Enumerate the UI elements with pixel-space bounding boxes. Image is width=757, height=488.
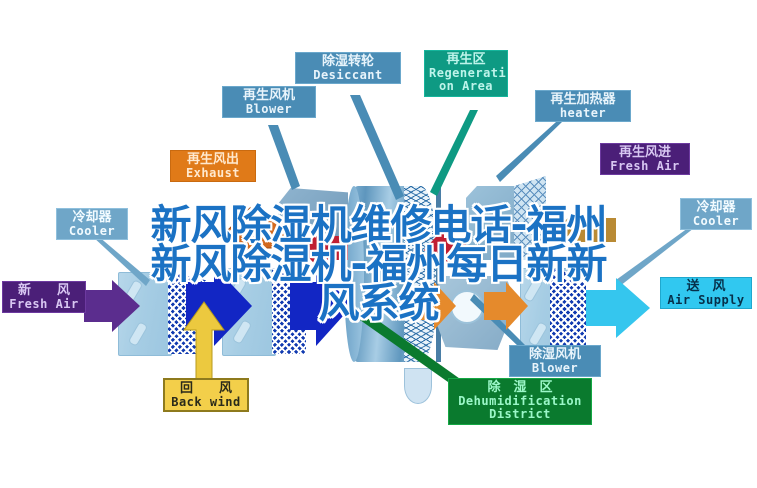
arrow-fresh-air-in-icon: [84, 280, 140, 332]
label-desiccant-wheel-en: Desiccant: [300, 69, 396, 82]
label-regeneration-blower-en: Blower: [227, 103, 311, 116]
label-dehumidification-blower: 除湿风机 Blower: [509, 345, 601, 377]
label-regeneration-blower-cn: 再生风机: [227, 89, 311, 103]
label-regeneration-exhaust-cn: 再生风出: [175, 153, 251, 167]
dehumidifier-diagram: 除湿转轮 Desiccant 再生风机 Blower 再生区 Regenerat…: [0, 0, 757, 488]
arrow-dry-air2-icon: [484, 282, 528, 330]
label-regeneration-air-inlet: 再生风进 Fresh Air: [600, 143, 690, 175]
label-dehumidification-district-cn: 除 湿 区: [453, 381, 587, 395]
label-desiccant-wheel-cn: 除湿转轮: [300, 55, 396, 69]
label-cooler-right-en: Cooler: [685, 215, 747, 228]
label-desiccant-wheel: 除湿转轮 Desiccant: [295, 52, 401, 84]
label-fresh-air-cn: 新 风: [7, 284, 81, 298]
label-fresh-air: 新 风 Fresh Air: [2, 281, 86, 313]
label-cooler-right: 冷却器 Cooler: [680, 198, 752, 230]
arrow-process-main2-icon: [290, 266, 352, 346]
label-dehumidification-district: 除 湿 区 Dehumidification District: [448, 378, 592, 425]
label-regeneration-blower: 再生风机 Blower: [222, 86, 316, 118]
label-regeneration-area: 再生区 Regenerati on Area: [424, 50, 508, 97]
label-fresh-air-en: Fresh Air: [7, 298, 81, 311]
label-dehumidification-district-en: Dehumidification District: [453, 395, 587, 423]
label-regeneration-exhaust: 再生风出 Exhaust: [170, 150, 256, 182]
label-regeneration-area-cn: 再生区: [429, 53, 503, 67]
label-regeneration-air-inlet-cn: 再生风进: [605, 146, 685, 160]
label-back-wind: 回 风 Back wind: [163, 378, 249, 412]
label-cooler-left: 冷却器 Cooler: [56, 208, 128, 240]
label-air-supply: 送 风 Air Supply: [660, 277, 752, 309]
arrow-dry-air-icon: [414, 282, 456, 330]
label-regeneration-heater-cn: 再生加热器: [540, 93, 626, 107]
label-dehumidification-blower-en: Blower: [514, 362, 596, 375]
label-cooler-right-cn: 冷却器: [685, 201, 747, 215]
label-regeneration-exhaust-en: Exhaust: [175, 167, 251, 180]
label-regeneration-air-inlet-en: Fresh Air: [605, 160, 685, 173]
arrow-exhaust-icon: [224, 208, 286, 260]
label-air-supply-cn: 送 风: [665, 280, 747, 294]
label-cooler-left-en: Cooler: [61, 225, 123, 238]
label-dehumidification-blower-cn: 除湿风机: [514, 348, 596, 362]
label-cooler-left-cn: 冷却器: [61, 211, 123, 225]
label-regeneration-heater-en: heater: [540, 107, 626, 120]
label-back-wind-en: Back wind: [169, 396, 243, 409]
label-regeneration-area-en: Regenerati on Area: [429, 67, 503, 95]
label-back-wind-cn: 回 风: [169, 382, 243, 396]
arrow-regen-hot-icon: [300, 224, 348, 272]
arrow-air-supply-icon: [586, 278, 650, 338]
arrow-regen-hot2-icon: [424, 228, 466, 272]
label-regeneration-heater: 再生加热器 heater: [535, 90, 631, 122]
arrow-regen-intake-icon: [556, 208, 616, 252]
label-air-supply-en: Air Supply: [665, 294, 747, 307]
